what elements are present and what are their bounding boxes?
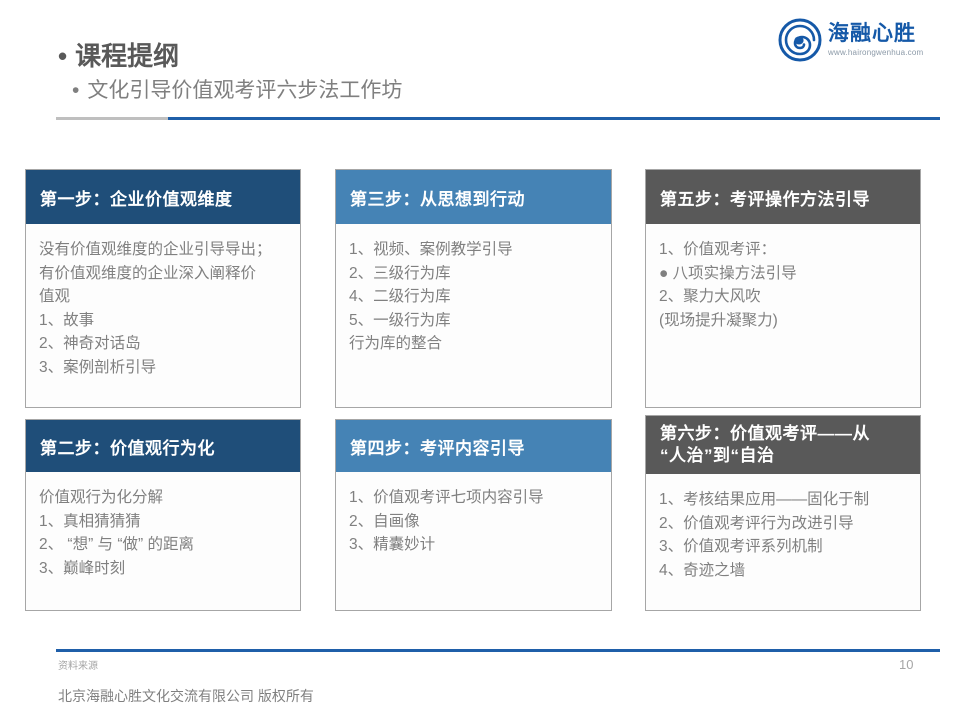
page-title: •课程提纲 (58, 40, 618, 73)
step-card-1[interactable]: 第一步：企业价值观维度 没有价值观维度的企业引导导出； 有价值观维度的企业深入阐… (25, 169, 301, 408)
footer-source-label: 资料来源 (58, 657, 98, 672)
card-2-line-2: 1、真相猜猜猜 (39, 510, 287, 534)
card-3-line-1: 1、视频、案例教学引导 (349, 238, 598, 262)
card-1-line-2: 有价值观维度的企业深入阐释价 (39, 262, 287, 286)
step-card-1-header: 第一步：企业价值观维度 (26, 170, 300, 224)
card-6-line-2: 2、价值观考评行为改进引导 (659, 512, 907, 536)
card-1-line-3: 值观 (39, 285, 287, 309)
logo-url-text: www.hairongwenhua.com (828, 48, 923, 57)
card-5-line-2: ● 八项实操方法引导 (659, 262, 907, 286)
logo-brand-text: 海融心胜 (828, 23, 923, 45)
swirl-eye-logo-icon (778, 18, 822, 62)
card-6-line-4: 4、奇迹之墙 (659, 559, 907, 583)
title-divider (56, 117, 940, 120)
card-5-line-1: 1、价值观考评： (659, 238, 907, 262)
card-4-line-3: 3、精囊妙计 (349, 533, 598, 557)
page-title-text: 课程提纲 (75, 41, 179, 71)
card-1-line-5: 2、神奇对话岛 (39, 332, 287, 356)
footer-copyright: 北京海融心胜文化交流有限公司 版权所有 (58, 686, 314, 706)
page-subtitle-text: 文化引导价值观考评六步法工作坊 (87, 79, 402, 102)
step-card-6-header: 第六步：价值观考评——从 “人治”到“自治 (646, 416, 920, 474)
card-5-line-4: (现场提升凝聚力) (659, 309, 907, 333)
step-card-6-body: 1、考核结果应用——固化于制 2、价值观考评行为改进引导 3、价值观考评系列机制… (646, 474, 920, 592)
step-card-3[interactable]: 第三步：从思想到行动 1、视频、案例教学引导 2、三级行为库 4、二级行为库 5… (335, 169, 612, 408)
card-3-line-3: 4、二级行为库 (349, 285, 598, 309)
title-bullet-icon: • (58, 40, 67, 73)
card-2-line-3: 2、 “想” 与 “做” 的距离 (39, 533, 287, 557)
step-card-1-body: 没有价值观维度的企业引导导出； 有价值观维度的企业深入阐释价 值观 1、故事 2… (26, 224, 300, 389)
divider-grey-segment (56, 117, 168, 120)
step-card-4[interactable]: 第四步：考评内容引导 1、价值观考评七项内容引导 2、自画像 3、精囊妙计 (335, 419, 612, 611)
step-card-2-body: 价值观行为化分解 1、真相猜猜猜 2、 “想” 与 “做” 的距离 3、巅峰时刻 (26, 472, 300, 590)
card-2-line-1: 价值观行为化分解 (39, 486, 287, 510)
step-card-6-header-line-2: “人治”到“自治 (660, 445, 906, 467)
card-3-line-4: 5、一级行为库 (349, 309, 598, 333)
divider-blue-segment (168, 117, 940, 120)
step-card-4-header: 第四步：考评内容引导 (336, 420, 611, 472)
step-card-5[interactable]: 第五步：考评操作方法引导 1、价值观考评： ● 八项实操方法引导 2、聚力大风吹… (645, 169, 921, 408)
step-card-5-body: 1、价值观考评： ● 八项实操方法引导 2、聚力大风吹 (现场提升凝聚力) (646, 224, 920, 342)
card-6-line-1: 1、考核结果应用——固化于制 (659, 488, 907, 512)
card-6-line-3: 3、价值观考评系列机制 (659, 535, 907, 559)
card-3-line-2: 2、三级行为库 (349, 262, 598, 286)
step-card-6[interactable]: 第六步：价值观考评——从 “人治”到“自治 1、考核结果应用——固化于制 2、价… (645, 415, 921, 611)
card-1-line-6: 3、案例剖析引导 (39, 356, 287, 380)
brand-logo: 海融心胜 www.hairongwenhua.com (778, 16, 936, 64)
card-2-line-4: 3、巅峰时刻 (39, 557, 287, 581)
card-5-line-3: 2、聚力大风吹 (659, 285, 907, 309)
page-number: 10 (899, 657, 913, 672)
step-card-2-header: 第二步：价值观行为化 (26, 420, 300, 472)
step-card-4-body: 1、价值观考评七项内容引导 2、自画像 3、精囊妙计 (336, 472, 611, 567)
step-card-6-header-line-1: 第六步：价值观考评——从 (660, 423, 906, 445)
step-card-2[interactable]: 第二步：价值观行为化 价值观行为化分解 1、真相猜猜猜 2、 “想” 与 “做”… (25, 419, 301, 611)
card-1-line-1: 没有价值观维度的企业引导导出； (39, 238, 287, 262)
card-4-line-2: 2、自画像 (349, 510, 598, 534)
step-card-3-body: 1、视频、案例教学引导 2、三级行为库 4、二级行为库 5、一级行为库 行为库的… (336, 224, 611, 366)
card-1-line-4: 1、故事 (39, 309, 287, 333)
footer-divider (56, 649, 940, 652)
card-4-line-1: 1、价值观考评七项内容引导 (349, 486, 598, 510)
step-card-5-header: 第五步：考评操作方法引导 (646, 170, 920, 224)
page-subtitle: •文化引导价值观考评六步法工作坊 (72, 77, 618, 104)
slide-title-block: •课程提纲 •文化引导价值观考评六步法工作坊 (58, 40, 618, 104)
card-3-line-5: 行为库的整合 (349, 332, 598, 356)
subtitle-bullet-icon: • (72, 77, 79, 104)
step-card-3-header: 第三步：从思想到行动 (336, 170, 611, 224)
